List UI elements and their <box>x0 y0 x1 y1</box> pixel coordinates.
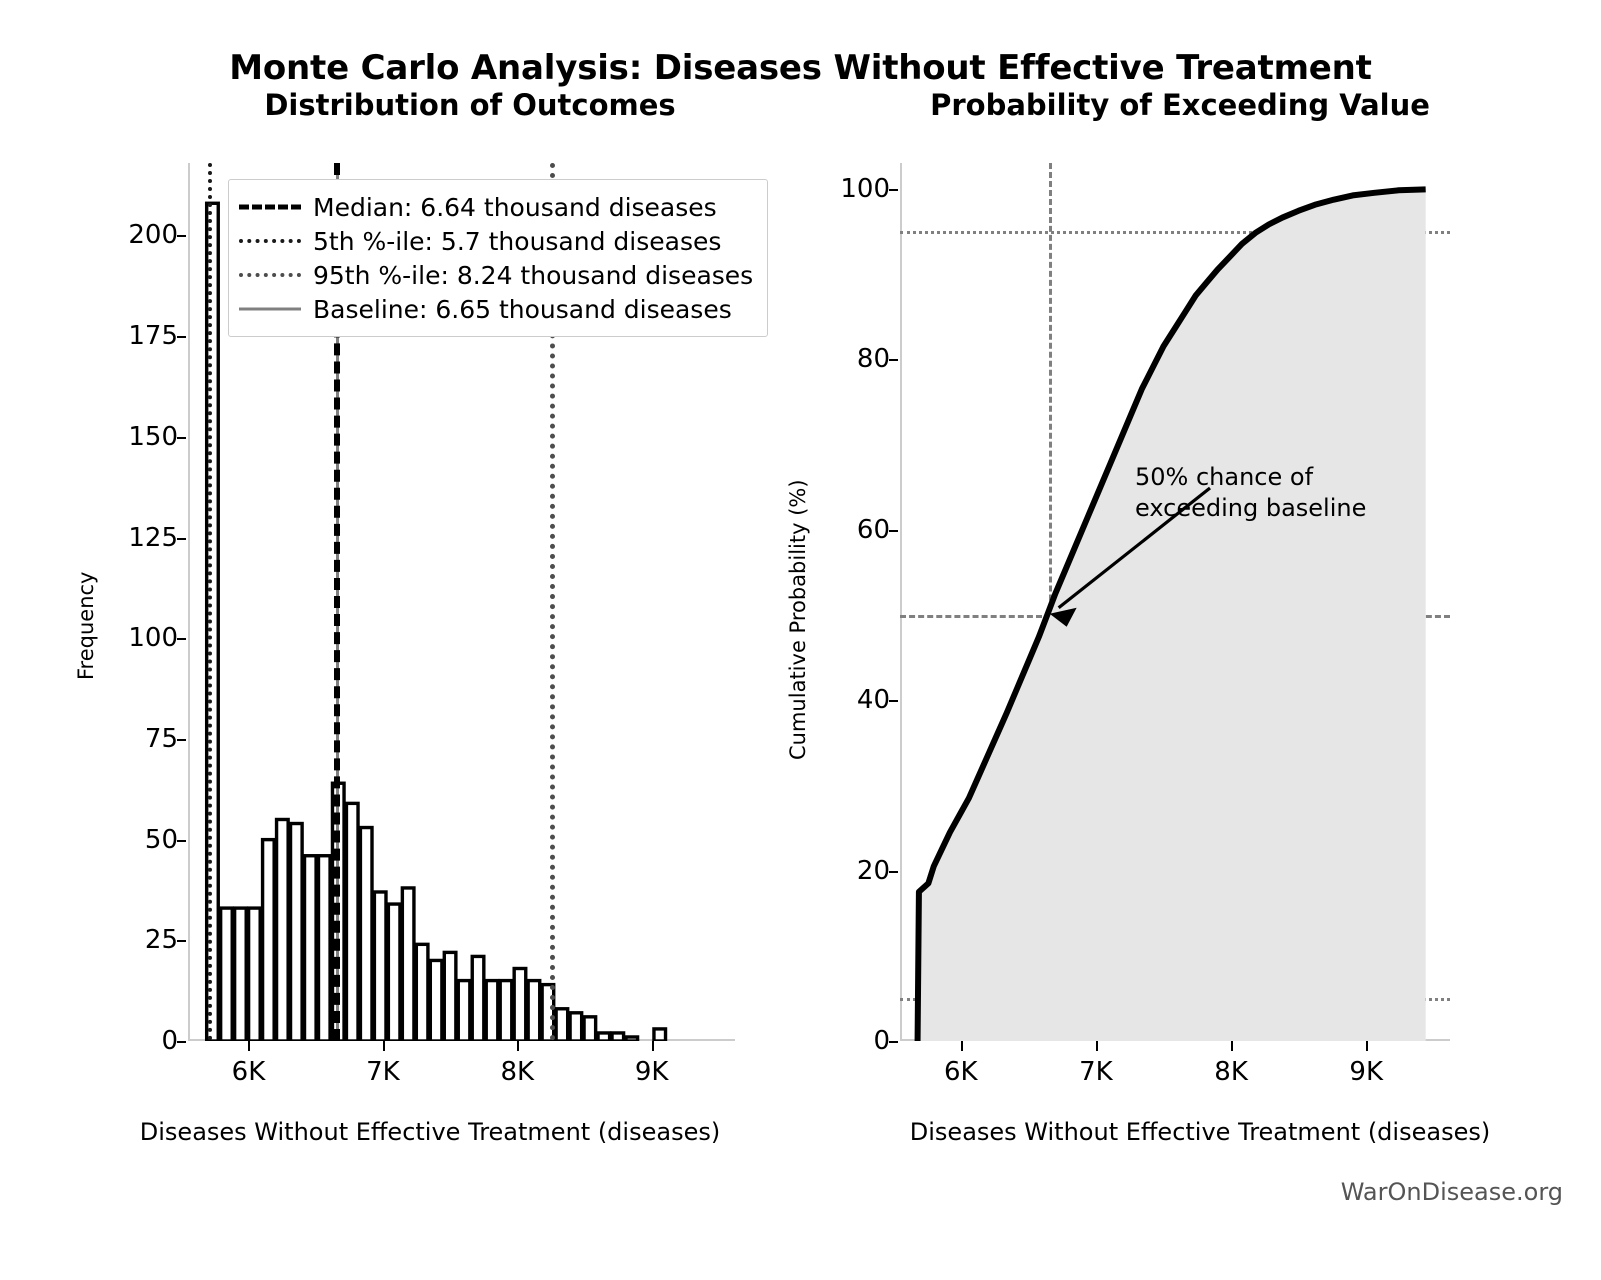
right-ytick-label-60: 60 <box>857 515 890 545</box>
histogram-bar <box>318 856 330 1041</box>
right-xtick-mark-9K <box>1366 1041 1368 1051</box>
left-xtick-label-8K: 8K <box>500 1057 534 1087</box>
right-ytick-mark-60 <box>889 530 898 532</box>
right-ytick-label-0: 0 <box>873 1026 890 1056</box>
left-ytick-mark-125 <box>177 538 186 540</box>
annotation-arrow-head <box>1050 608 1077 627</box>
left-xtick-label-9K: 9K <box>635 1057 669 1087</box>
left-ytick-mark-50 <box>177 840 186 842</box>
left-ytick-mark-25 <box>177 940 186 942</box>
right-ytick-mark-100 <box>889 189 898 191</box>
right-ytick-mark-80 <box>889 359 898 361</box>
left-ytick-mark-175 <box>177 336 186 338</box>
histogram-bar <box>514 969 526 1041</box>
right-xtick-label-8K: 8K <box>1214 1057 1248 1087</box>
legend-label-1: 5th %-ile: 5.7 thousand diseases <box>313 227 721 256</box>
left-ytick-label-75: 75 <box>145 724 178 754</box>
left-ytick-mark-100 <box>177 638 186 640</box>
right-ytick-label-100: 100 <box>840 174 890 204</box>
legend-row-3: Baseline: 6.65 thousand diseases <box>239 292 753 326</box>
histogram-bar <box>402 888 414 1041</box>
histogram-bar <box>486 981 498 1041</box>
legend-row-2: 95th %-ile: 8.24 thousand diseases <box>239 258 753 292</box>
histogram-bar <box>235 908 247 1041</box>
legend-label-3: Baseline: 6.65 thousand diseases <box>313 295 732 324</box>
histogram-bar <box>598 1033 610 1041</box>
right-ytick-label-40: 40 <box>857 685 890 715</box>
left-ytick-mark-200 <box>177 235 186 237</box>
histogram-bar <box>654 1029 666 1041</box>
watermark: WarOnDisease.org <box>1341 1178 1563 1206</box>
right-ytick-label-20: 20 <box>857 856 890 886</box>
histogram-bar <box>556 1009 568 1041</box>
histogram-bar <box>626 1037 638 1041</box>
right-ytick-label-80: 80 <box>857 344 890 374</box>
histogram-bar <box>472 956 484 1041</box>
page-title: Monte Carlo Analysis: Diseases Without E… <box>0 48 1601 88</box>
histogram-bar <box>374 892 386 1041</box>
left-ytick-label-50: 50 <box>145 825 178 855</box>
left-xtick-mark-8K <box>517 1041 519 1051</box>
right-ytick-mark-0 <box>889 1041 898 1043</box>
left-x-axis-label: Diseases Without Effective Treatment (di… <box>120 1118 740 1146</box>
left-ytick-mark-150 <box>177 437 186 439</box>
cdf-annotation: 50% chance of exceeding baseline <box>1135 462 1366 523</box>
histogram-bar <box>221 908 233 1041</box>
left-xtick-mark-9K <box>652 1041 654 1051</box>
chart-page: Monte Carlo Analysis: Diseases Without E… <box>0 0 1601 1280</box>
right-x-axis-label: Diseases Without Effective Treatment (di… <box>828 1118 1572 1146</box>
histogram-bar <box>305 856 317 1041</box>
chart-legend: Median: 6.64 thousand diseases5th %-ile:… <box>228 179 768 337</box>
annotation-arrow <box>900 163 1450 1041</box>
histogram-bar <box>291 824 303 1041</box>
left-panel-subtitle: Distribution of Outcomes <box>170 88 770 122</box>
left-y-axis-label: Frequency <box>74 572 98 681</box>
histogram-bar <box>500 981 512 1041</box>
left-ytick-label-100: 100 <box>128 623 178 653</box>
histogram-bar <box>430 960 442 1041</box>
histogram-bar <box>570 1013 582 1041</box>
right-xtick-label-7K: 7K <box>1079 1057 1113 1087</box>
cdf-panel: 020406080100 6K7K8K9K <box>900 163 1450 1041</box>
histogram-bar <box>416 944 428 1041</box>
histogram-bar <box>360 828 372 1041</box>
right-xtick-label-9K: 9K <box>1349 1057 1383 1087</box>
right-panel-subtitle: Probability of Exceeding Value <box>880 88 1480 122</box>
left-ytick-label-200: 200 <box>128 220 178 250</box>
left-ytick-mark-0 <box>177 1041 186 1043</box>
histogram-bar <box>263 840 275 1041</box>
histogram-bar <box>388 904 400 1041</box>
right-ytick-mark-40 <box>889 700 898 702</box>
right-xtick-mark-8K <box>1231 1041 1233 1051</box>
histogram-bar <box>444 952 456 1041</box>
left-xtick-label-6K: 6K <box>232 1057 266 1087</box>
legend-label-0: Median: 6.64 thousand diseases <box>313 193 717 222</box>
histogram-bar <box>249 908 261 1041</box>
histogram-bar <box>277 819 289 1041</box>
left-ytick-label-0: 0 <box>161 1026 178 1056</box>
histogram-bar <box>612 1033 624 1041</box>
right-xtick-mark-6K <box>961 1041 963 1051</box>
left-ytick-label-150: 150 <box>128 422 178 452</box>
left-xtick-mark-7K <box>383 1041 385 1051</box>
histogram-panel: 0255075100125150175200 6K7K8K9K Median: … <box>188 163 735 1041</box>
right-y-axis-label: Cumulative Probability (%) <box>786 479 810 760</box>
legend-label-2: 95th %-ile: 8.24 thousand diseases <box>313 261 753 290</box>
histogram-bar <box>458 981 470 1041</box>
left-ytick-label-25: 25 <box>145 925 178 955</box>
left-ytick-mark-75 <box>177 739 186 741</box>
legend-row-1: 5th %-ile: 5.7 thousand diseases <box>239 224 753 258</box>
legend-row-0: Median: 6.64 thousand diseases <box>239 190 753 224</box>
right-ytick-mark-20 <box>889 871 898 873</box>
left-ytick-label-125: 125 <box>128 523 178 553</box>
histogram-bar <box>346 803 358 1041</box>
left-refline-p5 <box>208 163 212 1041</box>
histogram-bar <box>584 1017 596 1041</box>
left-xtick-label-7K: 7K <box>366 1057 400 1087</box>
left-xtick-mark-6K <box>248 1041 250 1051</box>
right-xtick-mark-7K <box>1096 1041 1098 1051</box>
left-ytick-label-175: 175 <box>128 321 178 351</box>
histogram-bar <box>528 981 540 1041</box>
right-xtick-label-6K: 6K <box>944 1057 978 1087</box>
